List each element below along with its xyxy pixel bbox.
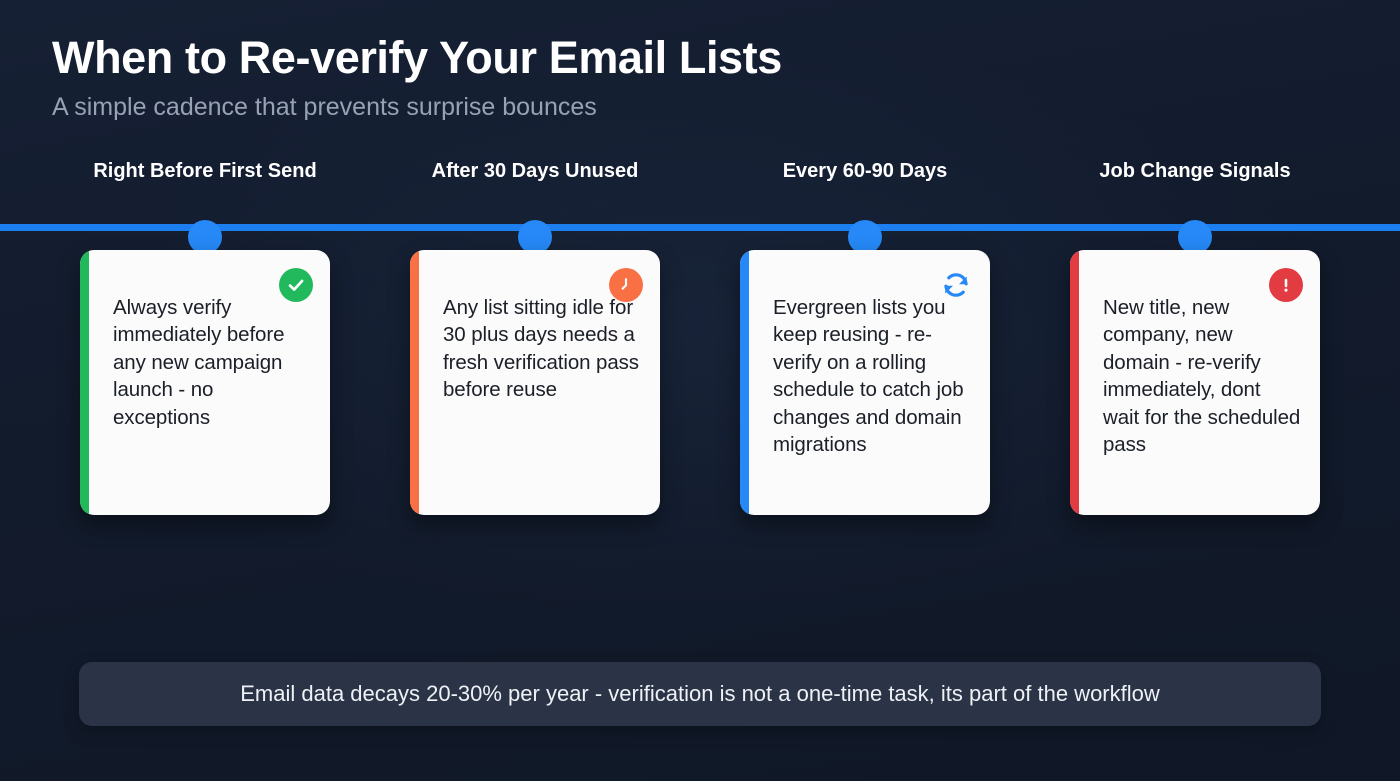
timeline-stop-label: Job Change Signals <box>1030 160 1360 183</box>
card-text: New title, new company, new domain - re-… <box>1103 294 1302 459</box>
timeline-stop-dot <box>1178 220 1212 254</box>
timeline-card[interactable]: Any list sitting idle for 30 plus days n… <box>410 250 660 515</box>
card-text: Any list sitting idle for 30 plus days n… <box>443 294 642 404</box>
card-text: Evergreen lists you keep reusing - re-ve… <box>773 294 972 459</box>
card-body: Any list sitting idle for 30 plus days n… <box>419 250 660 515</box>
timeline-card[interactable]: Always verify immediately before any new… <box>80 250 330 515</box>
page-title: When to Re-verify Your Email Lists <box>52 34 1152 83</box>
card-body: Always verify immediately before any new… <box>89 250 330 515</box>
card-body: Evergreen lists you keep reusing - re-ve… <box>749 250 990 515</box>
timeline-card[interactable]: Evergreen lists you keep reusing - re-ve… <box>740 250 990 515</box>
infographic-canvas: When to Re-verify Your Email Lists A sim… <box>0 0 1400 781</box>
footer-banner: Email data decays 20-30% per year - veri… <box>79 662 1321 726</box>
card-accent-bar <box>740 250 749 515</box>
timeline-stop-dot <box>518 220 552 254</box>
timeline-stop-dot <box>188 220 222 254</box>
timeline-stop-label: Right Before First Send <box>40 160 370 183</box>
card-text: Always verify immediately before any new… <box>113 294 312 431</box>
card-accent-bar <box>410 250 419 515</box>
timeline-stop-dot <box>848 220 882 254</box>
card-accent-bar <box>80 250 89 515</box>
footer-note: Email data decays 20-30% per year - veri… <box>240 681 1160 707</box>
header: When to Re-verify Your Email Lists A sim… <box>52 34 1152 121</box>
card-body: New title, new company, new domain - re-… <box>1079 250 1320 515</box>
timeline-card[interactable]: New title, new company, new domain - re-… <box>1070 250 1320 515</box>
timeline-stop-label: Every 60-90 Days <box>700 160 1030 183</box>
timeline-stop-label: After 30 Days Unused <box>370 160 700 183</box>
card-accent-bar <box>1070 250 1079 515</box>
page-subtitle: A simple cadence that prevents surprise … <box>52 93 1152 122</box>
